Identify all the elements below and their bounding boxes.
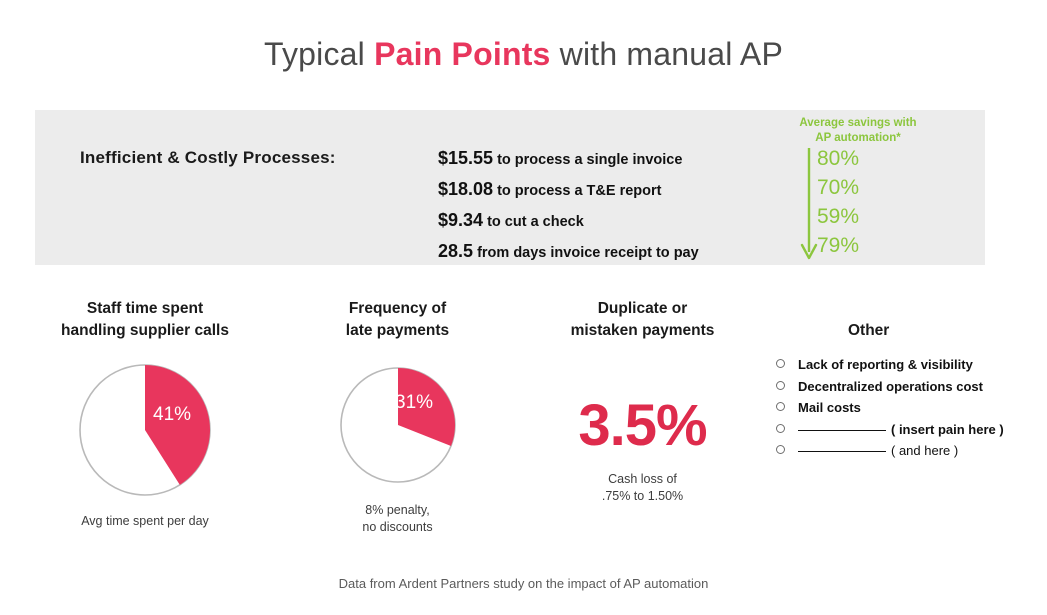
cost-line: $18.08 to process a T&E report <box>438 175 768 206</box>
cost-amount: 28.5 <box>438 241 473 261</box>
blank-fill-in-field[interactable] <box>798 430 886 431</box>
costly-processes-panel: Inefficient & Costly Processes: $15.55 t… <box>35 110 985 265</box>
pie-value-label: 41% <box>153 404 191 426</box>
savings-percent: 79% <box>817 231 907 260</box>
cost-description: to process a T&E report <box>493 183 661 199</box>
savings-header: Average savings with AP automation* <box>753 116 963 146</box>
other-pain-points-list: Lack of reporting & visibility Decentral… <box>770 354 1030 462</box>
circle-bullet-icon <box>776 359 785 368</box>
page-title: Typical Pain Points with manual AP <box>0 36 1047 73</box>
circle-bullet-icon <box>776 424 785 433</box>
column-title-line1: Staff time spent <box>35 298 255 320</box>
column-title-line1: Frequency of <box>295 298 500 320</box>
savings-header-line1: Average savings with <box>753 116 963 131</box>
title-suffix: with manual AP <box>551 36 783 72</box>
list-item: Lack of reporting & visibility <box>776 354 1030 376</box>
list-item: Mail costs <box>776 397 1030 419</box>
pie-chart-svg <box>337 364 459 486</box>
savings-percent: 80% <box>817 144 907 173</box>
column-title: Other <box>770 298 1030 342</box>
down-arrow-icon <box>799 148 819 260</box>
column-caption: Cash loss of .75% to 1.50% <box>540 471 745 505</box>
caption-line1: 8% penalty, <box>295 502 500 519</box>
big-stat-value: 3.5% <box>540 397 745 455</box>
cost-list: $15.55 to process a single invoice $18.0… <box>438 144 768 268</box>
column-title-line2: handling supplier calls <box>35 320 255 342</box>
cost-amount: $15.55 <box>438 148 493 168</box>
column-title-line2: late payments <box>295 320 500 342</box>
caption-line2: no discounts <box>295 519 500 536</box>
circle-bullet-icon <box>776 445 785 454</box>
savings-values: 80% 70% 59% 79% <box>817 144 907 260</box>
list-item-hint: ( and here ) <box>891 440 958 462</box>
column-title: Frequency of late payments <box>295 298 500 342</box>
list-item-label: Mail costs <box>798 397 861 419</box>
pie-value-label: 31% <box>395 392 433 414</box>
list-item-hint: ( insert pain here ) <box>891 419 1004 441</box>
list-item-label: Decentralized operations cost <box>798 376 983 398</box>
cost-description: to process a single invoice <box>493 152 682 168</box>
cost-amount: $9.34 <box>438 210 483 230</box>
source-footnote: Data from Ardent Partners study on the i… <box>0 576 1047 591</box>
column-duplicate-payments: Duplicate or mistaken payments 3.5% Cash… <box>540 298 745 505</box>
column-title-line1: Other <box>848 320 1030 342</box>
column-title: Duplicate or mistaken payments <box>540 298 745 342</box>
savings-percent: 59% <box>817 202 907 231</box>
circle-bullet-icon <box>776 402 785 411</box>
cost-amount: $18.08 <box>438 179 493 199</box>
column-caption: Avg time spent per day <box>35 513 255 530</box>
savings-percent: 70% <box>817 173 907 202</box>
column-caption: 8% penalty, no discounts <box>295 502 500 536</box>
list-item[interactable]: ( and here ) <box>776 440 1030 462</box>
blank-fill-in-field[interactable] <box>798 451 886 452</box>
cost-description: to cut a check <box>483 214 584 230</box>
cost-description: from days invoice receipt to pay <box>473 245 699 261</box>
column-late-payments: Frequency of late payments 31% 8% penalt… <box>295 298 500 536</box>
title-prefix: Typical <box>264 36 374 72</box>
column-staff-time: Staff time spent handling supplier calls… <box>35 298 255 530</box>
panel-heading: Inefficient & Costly Processes: <box>80 148 336 168</box>
list-item: Decentralized operations cost <box>776 376 1030 398</box>
circle-bullet-icon <box>776 381 785 390</box>
cost-line: 28.5 from days invoice receipt to pay <box>438 237 768 268</box>
list-item[interactable]: ( insert pain here ) <box>776 419 1030 441</box>
cost-line: $9.34 to cut a check <box>438 206 768 237</box>
cost-line: $15.55 to process a single invoice <box>438 144 768 175</box>
caption-line1: Cash loss of <box>540 471 745 488</box>
pie-chart-staff-time: 41% <box>35 360 255 500</box>
pie-chart-svg <box>75 360 215 500</box>
caption-line2: .75% to 1.50% <box>540 488 745 505</box>
list-item-label: Lack of reporting & visibility <box>798 354 973 376</box>
column-title: Staff time spent handling supplier calls <box>35 298 255 342</box>
column-other: Other Lack of reporting & visibility Dec… <box>770 298 1030 462</box>
column-title-line2: mistaken payments <box>540 320 745 342</box>
caption-line1: Avg time spent per day <box>35 513 255 530</box>
column-title-line1: Duplicate or <box>540 298 745 320</box>
pie-chart-late-payments: 31% <box>295 364 500 486</box>
title-accent: Pain Points <box>374 36 550 72</box>
pain-point-columns: Staff time spent handling supplier calls… <box>0 298 1047 538</box>
